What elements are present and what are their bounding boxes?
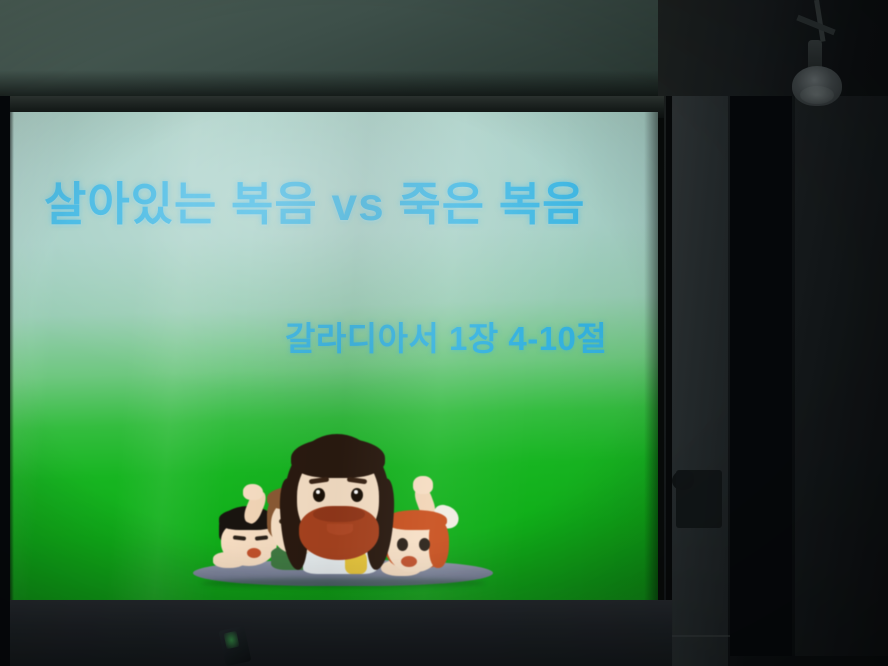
wall-far-panel xyxy=(795,96,888,656)
jesus-mouth xyxy=(327,524,353,535)
wall-pillar-smudge xyxy=(676,470,722,528)
projection-screen-surface: 살아있는 복음 vs 죽은 복음 갈라디아서 1장 4-10절 xyxy=(10,112,658,602)
wall-pillar-baseline xyxy=(672,635,730,637)
child-red-hair-hair-side xyxy=(429,522,449,568)
child-laughing-hand xyxy=(243,484,263,500)
child-sleeping-mouth xyxy=(247,548,261,558)
screen-edge-right xyxy=(644,112,658,602)
slide-title: 살아있는 복음 vs 죽은 복음 xyxy=(44,168,634,234)
child-red-hair-mouth xyxy=(401,556,417,567)
jesus-eye-glint-right xyxy=(354,490,358,494)
mat-shadow xyxy=(201,578,485,588)
jesus-mustache xyxy=(313,506,365,522)
screen-edge-left xyxy=(10,112,14,602)
jesus-eye-glint-left xyxy=(316,490,320,494)
child-red-hair-hand xyxy=(413,476,433,494)
fixture-glow xyxy=(800,86,834,104)
wall-pillar xyxy=(672,96,728,666)
child-red-hair-eye-left xyxy=(397,538,408,551)
jesus-hair-top xyxy=(291,438,385,478)
jesus-with-children-illustration xyxy=(185,432,505,600)
left-dark-margin xyxy=(0,96,10,666)
wall-dark-panel xyxy=(730,96,792,656)
slide-subtitle: 갈라디아서 1장 4-10절 xyxy=(285,312,658,360)
ceiling-light-fixture-icon xyxy=(786,0,852,120)
child-red-hair-eye-right xyxy=(419,538,430,551)
photo-of-projected-slide: 살아있는 복음 vs 죽은 복음 갈라디아서 1장 4-10절 xyxy=(0,0,888,666)
room-floor xyxy=(0,600,672,666)
